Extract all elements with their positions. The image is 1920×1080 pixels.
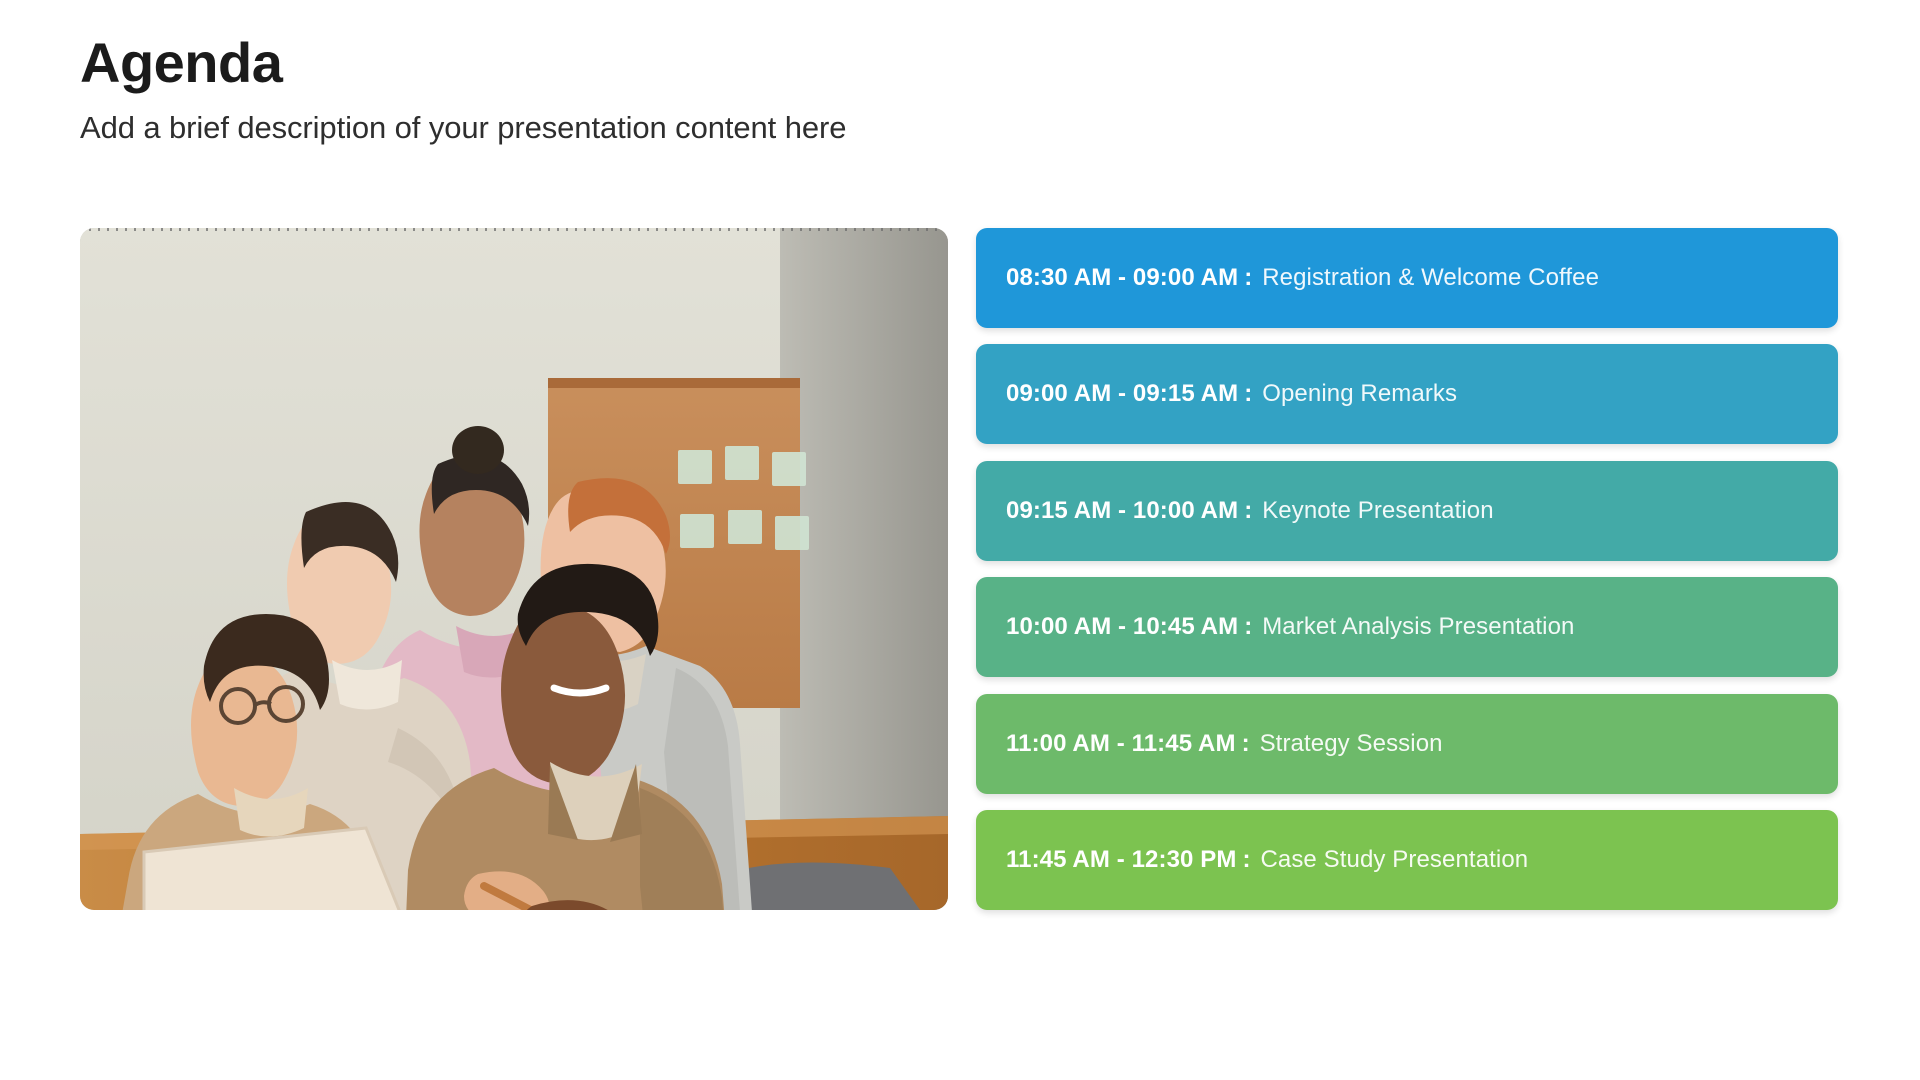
agenda-item[interactable]: 08:30 AM - 09:00 AM : Registration & Wel…	[976, 228, 1838, 328]
agenda-list: 08:30 AM - 09:00 AM : Registration & Wel…	[976, 228, 1842, 910]
agenda-item-description: Case Study Presentation	[1260, 846, 1528, 874]
agenda-item-time: 09:00 AM - 09:15 AM	[1006, 380, 1238, 408]
slide-content: 08:30 AM - 09:00 AM : Registration & Wel…	[80, 228, 1842, 910]
agenda-item-separator: :	[1238, 497, 1254, 525]
agenda-item-description: Market Analysis Presentation	[1262, 613, 1574, 641]
agenda-item-time: 11:00 AM - 11:45 AM	[1006, 730, 1236, 758]
slide-header: Agenda Add a brief description of your p…	[80, 32, 1580, 147]
page-subtitle: Add a brief description of your presenta…	[80, 109, 1580, 148]
agenda-item-time: 09:15 AM - 10:00 AM	[1006, 497, 1238, 525]
agenda-item[interactable]: 10:00 AM - 10:45 AM : Market Analysis Pr…	[976, 577, 1838, 677]
agenda-item-description: Strategy Session	[1260, 730, 1443, 758]
agenda-item-separator: :	[1238, 380, 1254, 408]
agenda-slide: Agenda Add a brief description of your p…	[0, 0, 1920, 1080]
agenda-item-separator: :	[1236, 846, 1252, 874]
agenda-item-time: 08:30 AM - 09:00 AM	[1006, 264, 1238, 292]
agenda-item[interactable]: 11:00 AM - 11:45 AM : Strategy Session	[976, 694, 1838, 794]
agenda-item-separator: :	[1238, 613, 1254, 641]
agenda-item-time: 11:45 AM - 12:30 PM	[1006, 846, 1236, 874]
page-title: Agenda	[80, 32, 1580, 95]
team-photo	[80, 228, 948, 910]
agenda-item-description: Opening Remarks	[1262, 380, 1457, 408]
agenda-item-description: Registration & Welcome Coffee	[1262, 264, 1599, 292]
team-photo-illustration	[80, 228, 948, 910]
agenda-item-time: 10:00 AM - 10:45 AM	[1006, 613, 1238, 641]
agenda-item-separator: :	[1238, 264, 1254, 292]
agenda-item-description: Keynote Presentation	[1262, 497, 1494, 525]
agenda-item[interactable]: 11:45 AM - 12:30 PM : Case Study Present…	[976, 810, 1838, 910]
agenda-item-separator: :	[1236, 730, 1252, 758]
agenda-item[interactable]: 09:00 AM - 09:15 AM : Opening Remarks	[976, 344, 1838, 444]
agenda-item[interactable]: 09:15 AM - 10:00 AM : Keynote Presentati…	[976, 461, 1838, 561]
